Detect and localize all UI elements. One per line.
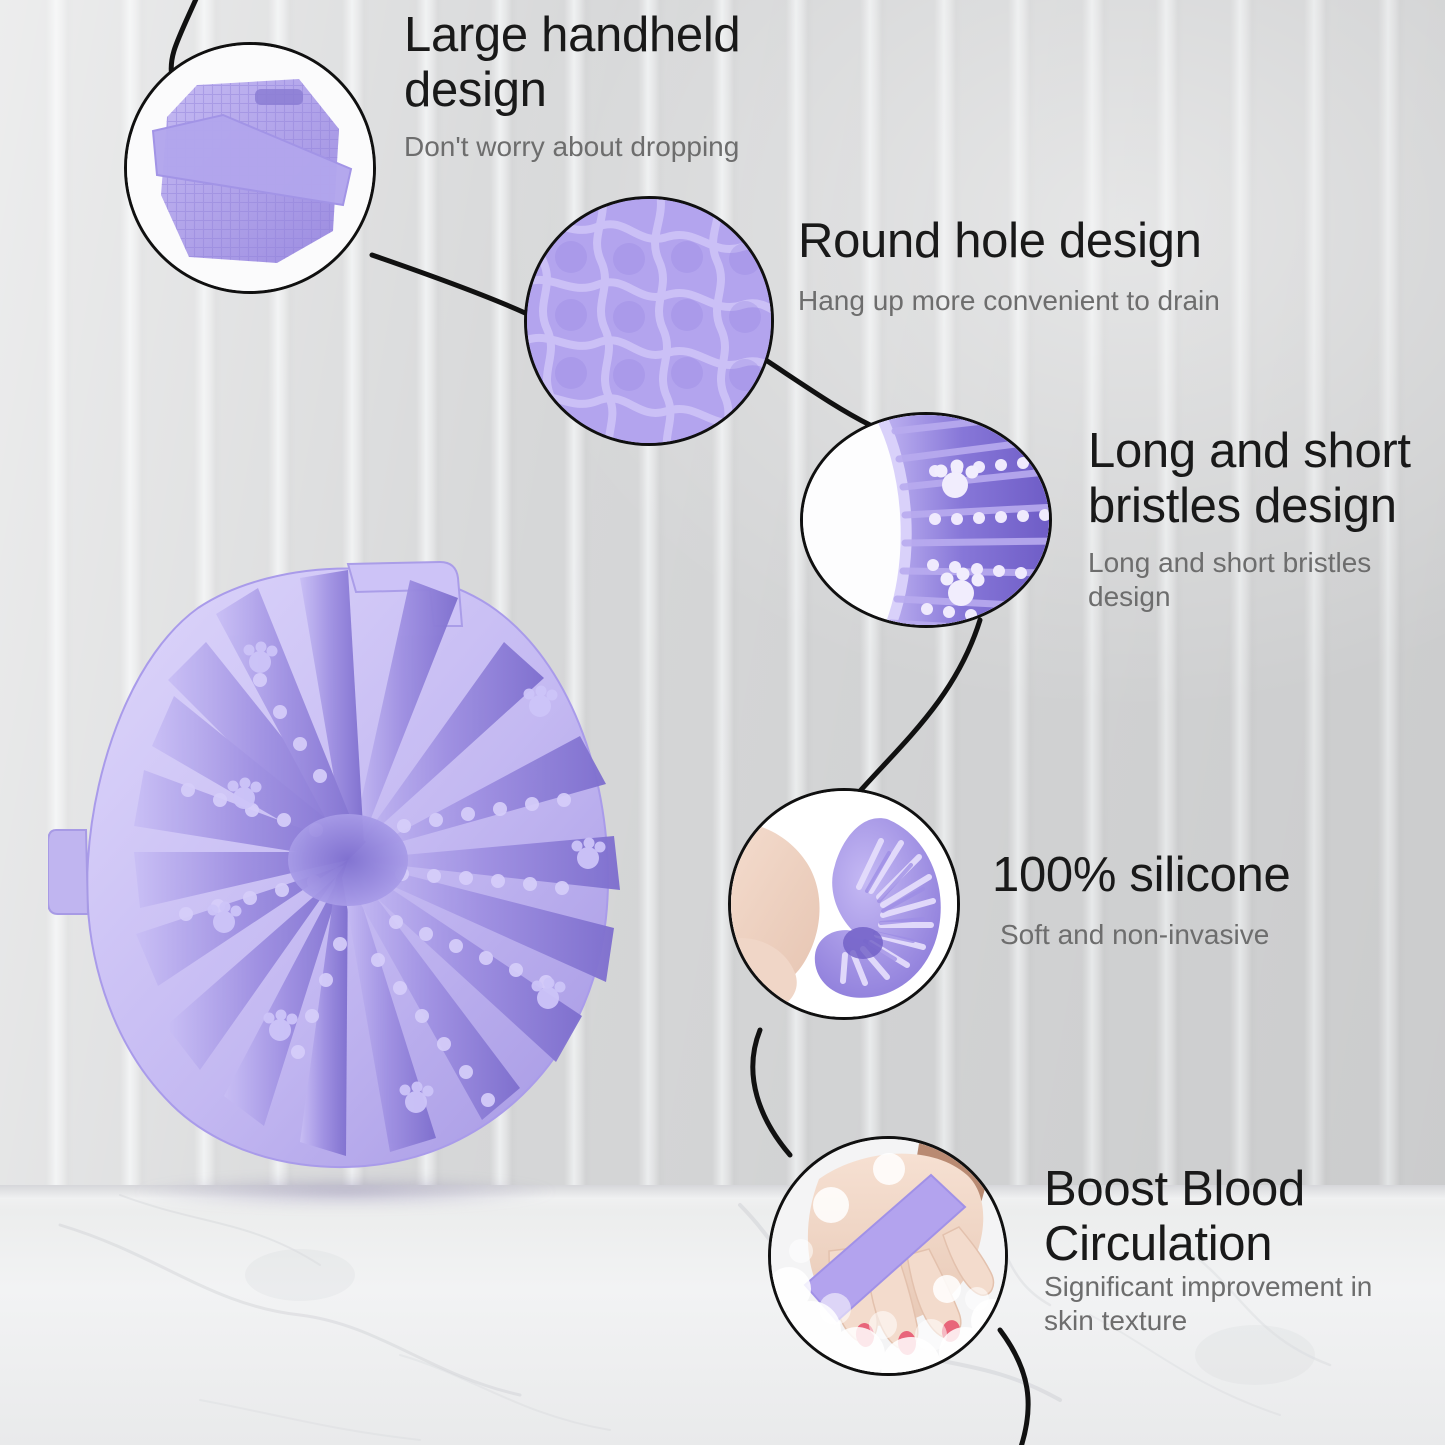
callout-title-100-percent-silicone: 100% silicone	[992, 848, 1412, 903]
callout-image-round-hole-design	[524, 196, 774, 446]
callout-subtitle-boost-blood-circulation: Significant improvement in skin texture	[1044, 1270, 1414, 1337]
product-infographic: Large handheld design Don't worry about …	[0, 0, 1445, 1445]
callout-title-long-and-short-bristles-design: Long and short bristles design	[1088, 424, 1445, 534]
hero-product-image	[48, 530, 688, 1200]
callout-title-large-handheld-design: Large handheld design	[404, 8, 864, 118]
callout-subtitle-long-and-short-bristles-design: Long and short bristles design	[1088, 546, 1418, 613]
callout-image-long-and-short-bristles-design	[800, 412, 1052, 628]
callout-subtitle-large-handheld-design: Don't worry about dropping	[404, 130, 874, 164]
callout-image-boost-blood-circulation	[768, 1136, 1008, 1376]
callout-title-boost-blood-circulation: Boost Blood Circulation	[1044, 1162, 1434, 1272]
callout-image-100-percent-silicone	[728, 788, 960, 1020]
callout-subtitle-100-percent-silicone: Soft and non-invasive	[1000, 918, 1420, 952]
callout-image-large-handheld-design	[124, 42, 376, 294]
callout-subtitle-round-hole-design: Hang up more convenient to drain	[798, 284, 1318, 318]
brush-side-strap	[48, 830, 88, 914]
callout-title-round-hole-design: Round hole design	[798, 214, 1318, 269]
